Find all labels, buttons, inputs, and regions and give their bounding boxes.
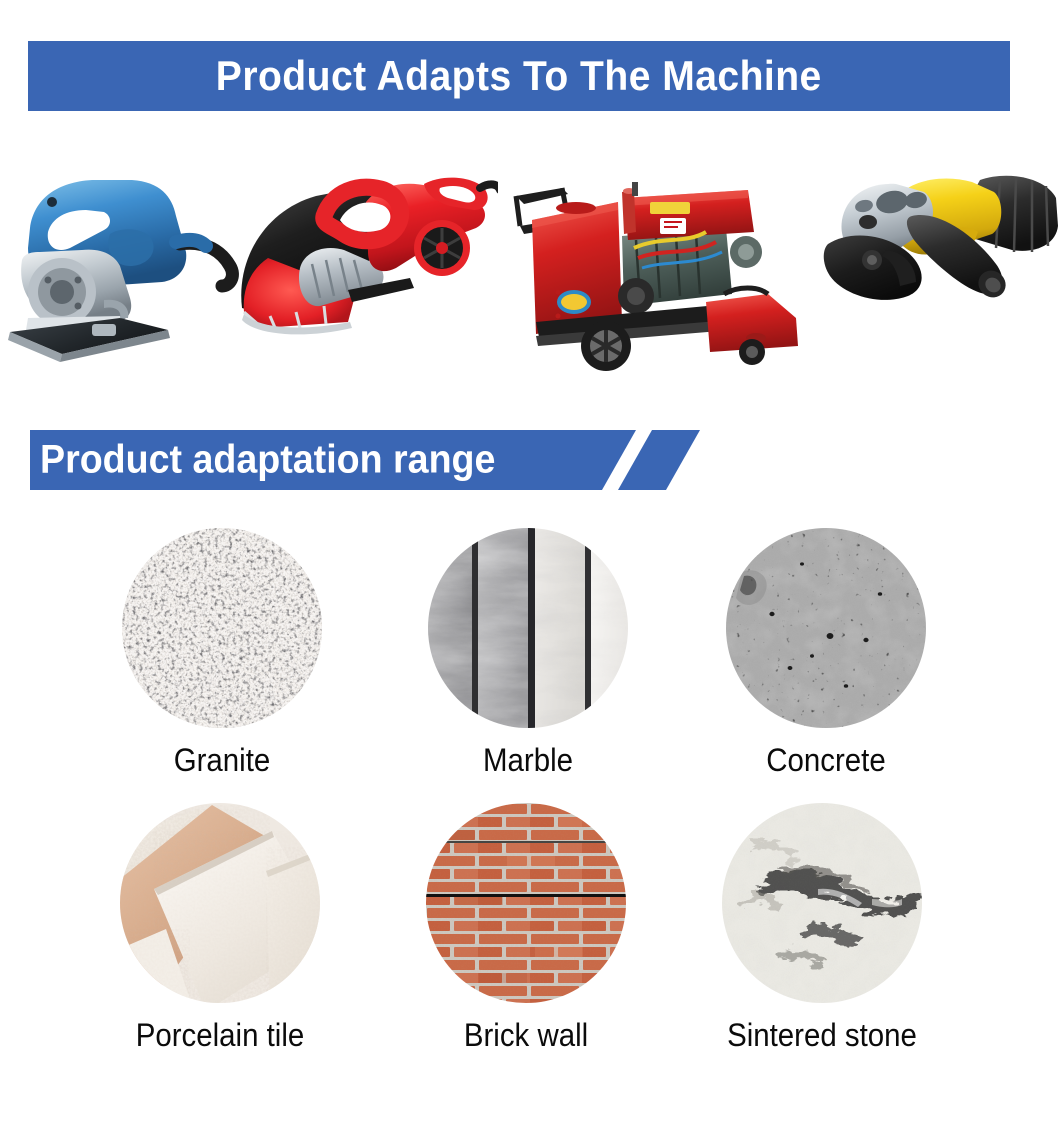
page-title: Product Adapts To The Machine xyxy=(216,52,822,100)
material-item-brick-wall[interactable]: Brick wall xyxy=(366,803,686,1054)
machine-image-diesel-floor-saw xyxy=(510,140,810,400)
material-label-porcelain-tile: Porcelain tile xyxy=(73,1017,367,1054)
material-row-1: Granite xyxy=(0,528,1059,803)
material-row-2: Porcelain tile xyxy=(0,803,1059,1078)
machine-image-concrete-cut-off-saw xyxy=(228,140,498,400)
product-adaptation-page: Product Adapts To The Machine xyxy=(0,0,1059,1143)
material-label-concrete: Concrete xyxy=(679,742,973,779)
granite-swatch xyxy=(122,528,322,728)
material-grid: Granite xyxy=(0,528,1059,1078)
machine-image-marble-tile-cutter xyxy=(0,140,250,400)
machine-image-angle-grinder xyxy=(820,140,1059,400)
material-item-marble[interactable]: Marble xyxy=(368,528,688,779)
section-header-adaptation-range: Product adaptation range xyxy=(0,424,720,496)
marble-swatch xyxy=(428,528,628,728)
porcelain-tile-swatch xyxy=(120,803,320,1003)
material-label-marble: Marble xyxy=(381,742,675,779)
material-item-granite[interactable]: Granite xyxy=(62,528,382,779)
material-label-sintered-stone: Sintered stone xyxy=(675,1017,969,1054)
concrete-swatch xyxy=(726,528,926,728)
material-item-sintered-stone[interactable]: Sintered stone xyxy=(662,803,982,1054)
title-banner: Product Adapts To The Machine xyxy=(28,41,1010,111)
material-label-brick-wall: Brick wall xyxy=(379,1017,673,1054)
brick-wall-swatch xyxy=(426,803,626,1003)
sintered-stone-swatch xyxy=(722,803,922,1003)
material-item-concrete[interactable]: Concrete xyxy=(666,528,986,779)
machine-image-row xyxy=(0,140,1059,400)
material-label-granite: Granite xyxy=(75,742,369,779)
section-title: Product adaptation range xyxy=(40,438,495,483)
material-item-porcelain-tile[interactable]: Porcelain tile xyxy=(60,803,380,1054)
